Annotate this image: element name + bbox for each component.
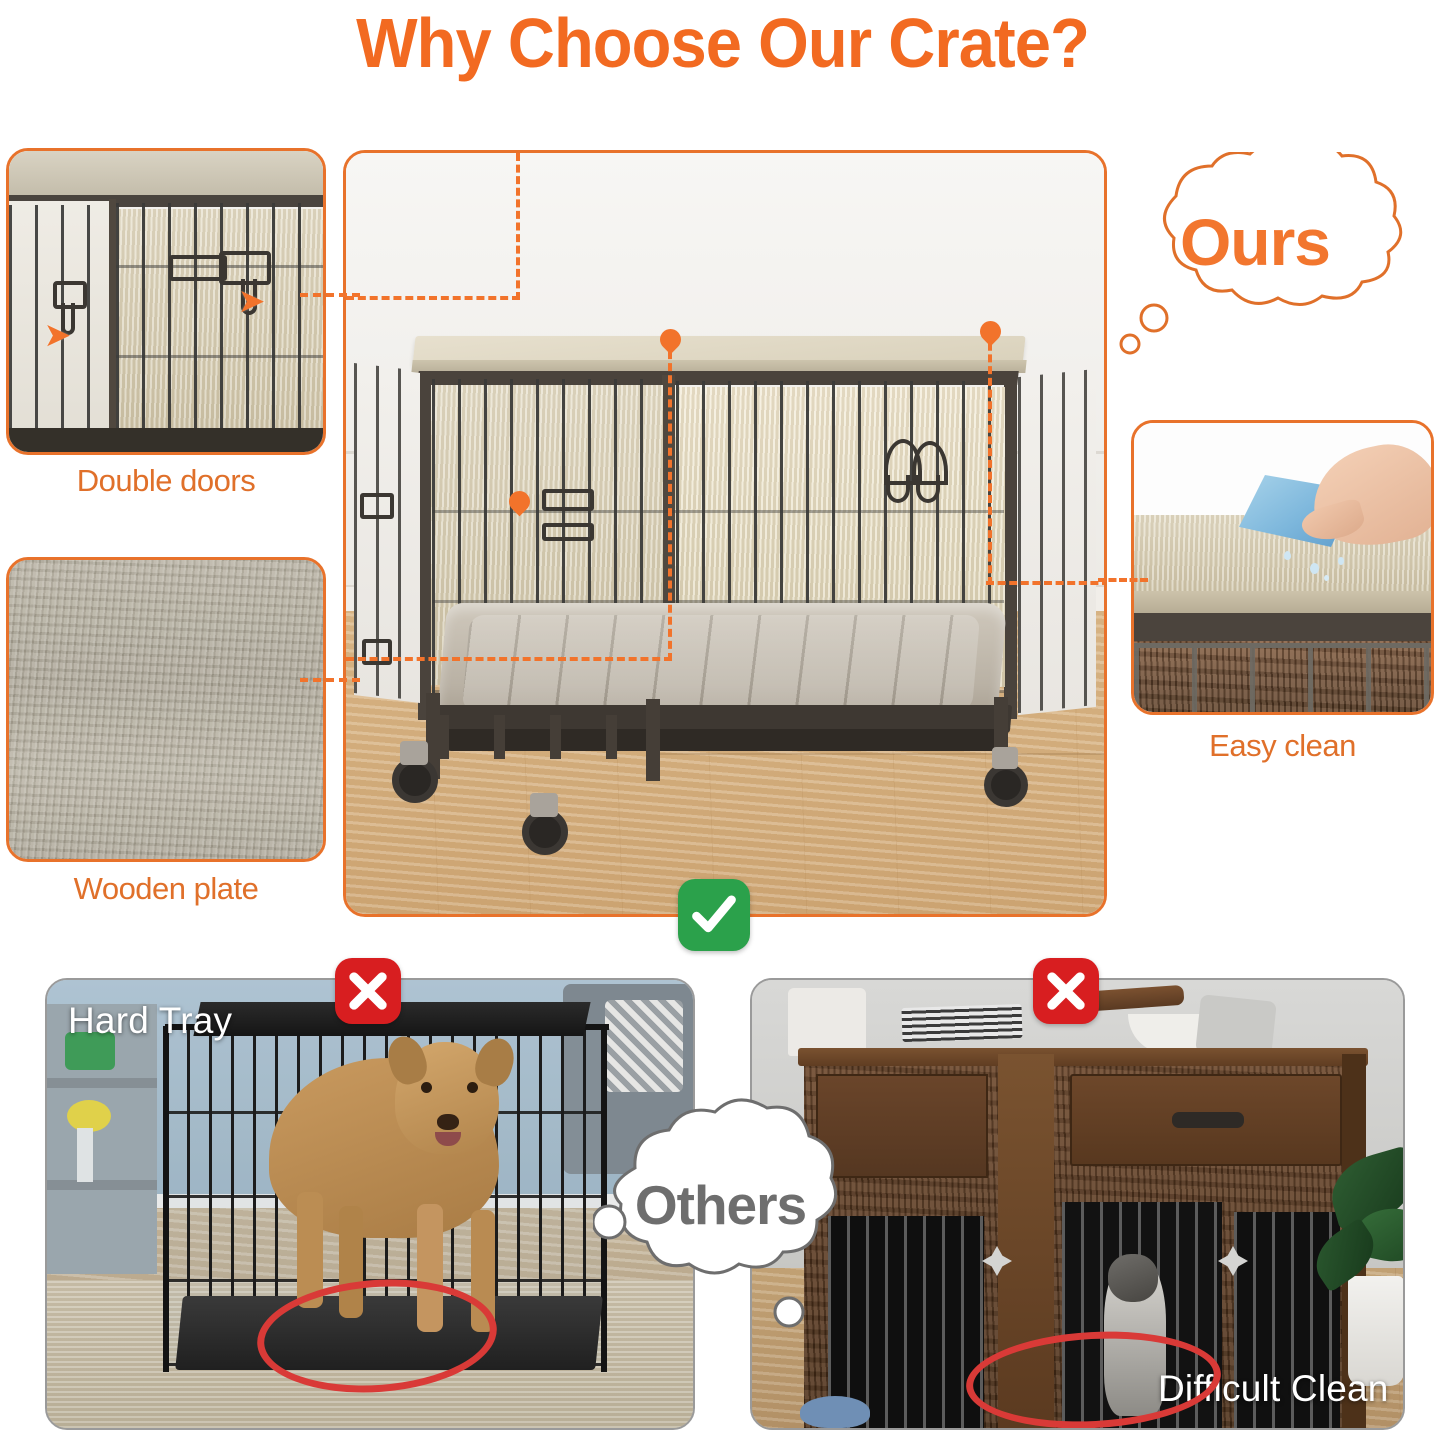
connector-line-wood — [668, 339, 672, 661]
others-thought-bubble: Others — [593, 1098, 853, 1330]
connector-doors-to-main — [300, 293, 360, 297]
easy-clean-photo — [1134, 423, 1431, 712]
callout-label-easy-clean: Easy clean — [1131, 727, 1434, 765]
others-bubble-label: Others — [593, 1173, 848, 1237]
wooden-plate-photo — [9, 560, 323, 859]
double-doors-photo: ➤ ➤ — [9, 151, 323, 452]
callout-panel-double-doors: ➤ ➤ — [6, 148, 326, 455]
caster-wheel — [984, 763, 1028, 807]
latch-arrow-left: ➤ — [45, 321, 70, 351]
main-product-photo — [346, 153, 1104, 914]
infographic-root: Why Choose Our Crate? ➤ ➤ Double — [0, 0, 1445, 1436]
red-x-badge-difficult-clean — [1033, 958, 1099, 1024]
red-x-badge-hard-tray — [335, 958, 401, 1024]
connector-line-wood-h — [346, 657, 672, 661]
latch-arrow-right: ➤ — [239, 287, 264, 317]
connector-line-door — [346, 296, 520, 300]
green-check-badge — [678, 879, 750, 951]
callout-panel-easy-clean — [1131, 420, 1434, 715]
others-label-hard-tray: Hard Tray — [68, 1000, 232, 1042]
ours-bubble-label: Ours — [1118, 204, 1392, 280]
connector-wood-to-main — [300, 678, 360, 682]
connector-line-clean — [988, 331, 992, 585]
connector-main-to-clean — [1098, 578, 1148, 582]
connector-line-top — [516, 153, 520, 300]
callout-label-double-doors: Double doors — [6, 462, 326, 500]
callout-label-wooden-plate: Wooden plate — [6, 870, 326, 908]
callout-panel-wooden-plate — [6, 557, 326, 862]
main-product-panel — [343, 150, 1107, 917]
ours-thought-bubble: Ours — [1118, 152, 1438, 357]
page-title: Why Choose Our Crate? — [51, 2, 1395, 84]
connector-line-clean-h — [986, 581, 1107, 585]
